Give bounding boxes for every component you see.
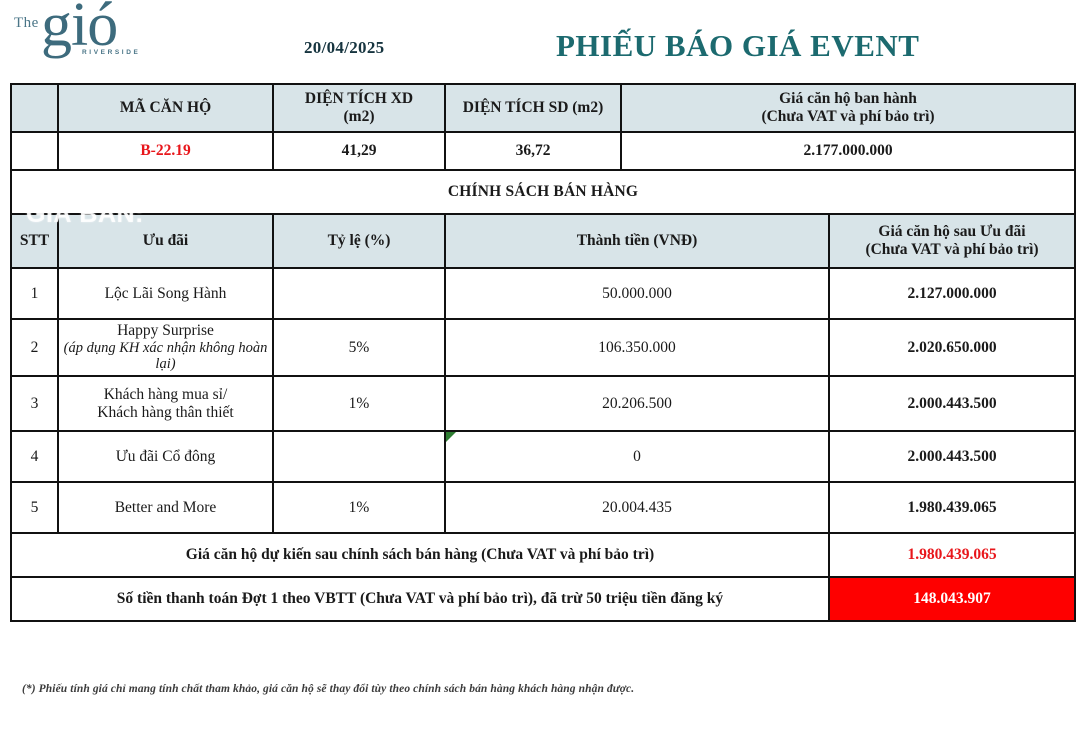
cell-discount-name: Better and More [58,482,273,533]
cell-price-after: 1.980.439.065 [829,482,1075,533]
cell-discount-name: Happy Surprise (áp dụng KH xác nhận khôn… [58,319,273,376]
cell-amount: 20.004.435 [445,482,829,533]
header-rate: Tỷ lệ (%) [273,214,445,268]
cell-discount-name: Lộc Lãi Song Hành [58,268,273,319]
cell-rate: 1% [273,482,445,533]
header-amount: Thành tiền (VNĐ) [445,214,829,268]
policy-header-row: STT Ưu đãi Tỷ lệ (%) Thành tiền (VNĐ) Gi… [11,214,1075,268]
header-list-price: Giá căn hộ ban hành (Chưa VAT và phí bảo… [621,84,1075,132]
cell-price-after: 2.000.443.500 [829,376,1075,431]
value-area-sd: 36,72 [445,132,621,170]
cell-amount: 0 [445,431,829,482]
summary-value-expected-price: 1.980.439.065 [829,533,1075,577]
summary-row-first-payment: Số tiền thanh toán Đợt 1 theo VBTT (Chưa… [11,577,1075,621]
table-row: 2 Happy Surprise (áp dụng KH xác nhận kh… [11,319,1075,376]
cell-discount-name: Khách hàng mua sỉ/ Khách hàng thân thiết [58,376,273,431]
policy-section-title: CHÍNH SÁCH BÁN HÀNG [11,170,1075,214]
cell-amount: 20.206.500 [445,376,829,431]
cell-rate: 1% [273,376,445,431]
cell-price-after: 2.000.443.500 [829,431,1075,482]
header-stt: STT [11,214,58,268]
cell-price-after: 2.020.650.000 [829,319,1075,376]
policy-section-title-row: CHÍNH SÁCH BÁN HÀNG [11,170,1075,214]
header-discount: Ưu đãi [58,214,273,268]
cell-rate: 5% [273,319,445,376]
value-area-xd: 41,29 [273,132,445,170]
cell-discount-title: Happy Surprise [63,322,268,340]
footnote-disclaimer: (*) Phiếu tính giá chỉ mang tính chất th… [22,683,634,695]
table-row: 5 Better and More 1% 20.004.435 1.980.43… [11,482,1075,533]
cell-stt: 4 [11,431,58,482]
header-area-sd: DIỆN TÍCH SD (m2) [445,84,621,132]
table-row: 3 Khách hàng mua sỉ/ Khách hàng thân thi… [11,376,1075,431]
quotation-table: MÃ CĂN HỘ DIỆN TÍCH XD (m2) DIỆN TÍCH SD… [10,83,1076,622]
value-apartment-code: B-22.19 [58,132,273,170]
header-apartment-code: MÃ CĂN HỘ [58,84,273,132]
header-area-xd: DIỆN TÍCH XD (m2) [273,84,445,132]
apartment-data-row: B-22.19 41,29 36,72 2.177.000.000 [11,132,1075,170]
spacer-cell-header [11,84,58,132]
document-header: The gió RIVERSIDE 20/04/2025 PHIẾU BÁO G… [0,0,1080,78]
summary-label-expected-price: Giá căn hộ dự kiến sau chính sách bán hà… [11,533,829,577]
cell-discount-title: Khách hàng mua sỉ/ [63,386,268,404]
header-list-price-line2: (Chưa VAT và phí bảo trì) [626,108,1070,126]
brand-logo: The gió RIVERSIDE [10,4,160,66]
table-row: 4 Ưu đãi Cổ đông 0 2.000.443.500 [11,431,1075,482]
summary-label-first-payment: Số tiền thanh toán Đợt 1 theo VBTT (Chưa… [11,577,829,621]
apartment-header-row: MÃ CĂN HỘ DIỆN TÍCH XD (m2) DIỆN TÍCH SD… [11,84,1075,132]
header-price-after-line1: Giá căn hộ sau Ưu đãi [834,223,1070,241]
brand-logo-the: The [14,16,39,31]
quote-date: 20/04/2025 [304,38,384,58]
spacer-cell-data [11,132,58,170]
value-list-price: 2.177.000.000 [621,132,1075,170]
cell-discount-note: (áp dụng KH xác nhận không hoàn lại) [63,340,268,373]
header-area-xd-line2: (m2) [278,108,440,126]
cell-amount: 106.350.000 [445,319,829,376]
table-row: 1 Lộc Lãi Song Hành 50.000.000 2.127.000… [11,268,1075,319]
cell-discount-name: Ưu đãi Cổ đông [58,431,273,482]
header-area-xd-line1: DIỆN TÍCH XD [278,90,440,108]
summary-row-expected-price: Giá căn hộ dự kiến sau chính sách bán hà… [11,533,1075,577]
summary-value-first-payment: 148.043.907 [829,577,1075,621]
page-title: PHIẾU BÁO GIÁ EVENT [556,28,919,64]
cell-discount-note: Khách hàng thân thiết [63,404,268,422]
brand-logo-tagline: RIVERSIDE [82,50,140,57]
cell-stt: 3 [11,376,58,431]
cell-stt: 1 [11,268,58,319]
cell-price-after: 2.127.000.000 [829,268,1075,319]
cell-rate [273,268,445,319]
header-price-after-discount: Giá căn hộ sau Ưu đãi (Chưa VAT và phí b… [829,214,1075,268]
cell-amount: 50.000.000 [445,268,829,319]
cell-stt: 5 [11,482,58,533]
cell-rate [273,431,445,482]
header-price-after-line2: (Chưa VAT và phí bảo trì) [834,241,1070,259]
cell-stt: 2 [11,319,58,376]
brand-logo-name: gió [41,0,117,56]
header-list-price-line1: Giá căn hộ ban hành [626,90,1070,108]
quotation-sheet: MÃ CĂN HỘ DIỆN TÍCH XD (m2) DIỆN TÍCH SD… [10,83,1074,622]
